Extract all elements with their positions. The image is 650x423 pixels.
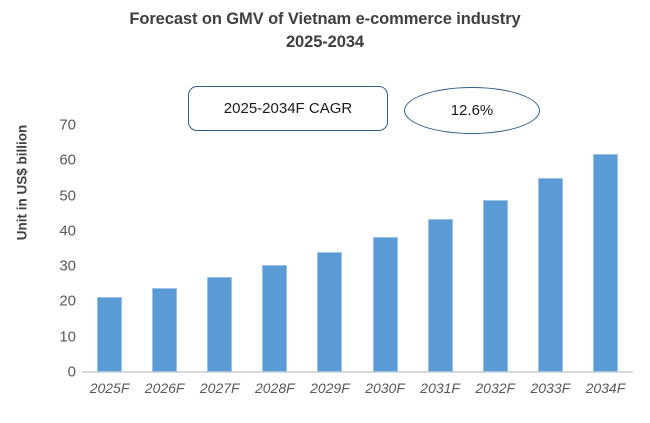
bar — [97, 297, 122, 373]
x-axis-tick-label: 2026F — [137, 380, 193, 396]
x-axis-tick-label: 2032F — [467, 380, 523, 396]
bar — [538, 178, 563, 372]
chart-title-line-2: 2025-2034 — [0, 31, 650, 54]
x-axis-tick-label: 2034F — [577, 380, 633, 396]
bar — [207, 277, 232, 372]
chart-title-line-1: Forecast on GMV of Vietnam e-commerce in… — [0, 8, 650, 31]
y-axis-tick-label: 10 — [0, 328, 76, 345]
y-axis-tick-label: 70 — [0, 117, 76, 134]
bar — [262, 265, 287, 372]
bars-layer — [82, 125, 633, 372]
bar — [483, 200, 508, 372]
x-axis-tick-labels: 2025F2026F2027F2028F2029F2030F2031F2032F… — [82, 380, 633, 406]
y-axis-tick-label: 0 — [0, 364, 76, 381]
x-axis-tick-label: 2029F — [302, 380, 358, 396]
bar — [317, 252, 342, 372]
x-axis-tick-label: 2030F — [357, 380, 413, 396]
y-axis-tick-label: 30 — [0, 258, 76, 275]
x-axis-tick-label: 2027F — [192, 380, 248, 396]
bar — [152, 288, 177, 372]
chart-container: Forecast on GMV of Vietnam e-commerce in… — [0, 0, 650, 423]
y-axis-tick-labels: 010203040506070 — [0, 125, 76, 373]
chart-title: Forecast on GMV of Vietnam e-commerce in… — [0, 8, 650, 55]
cagr-value-text: 12.6% — [451, 102, 494, 119]
x-axis-tick-label: 2028F — [247, 380, 303, 396]
y-axis-tick-label: 20 — [0, 293, 76, 310]
y-axis-tick-label: 60 — [0, 152, 76, 169]
bar — [593, 154, 618, 372]
y-axis-tick-label: 50 — [0, 187, 76, 204]
x-axis-tick-label: 2031F — [412, 380, 468, 396]
bar — [428, 219, 453, 372]
cagr-label-text: 2025-2034F CAGR — [224, 100, 352, 117]
y-axis-tick-label: 40 — [0, 222, 76, 239]
bar — [373, 237, 398, 372]
x-axis-tick-label: 2025F — [82, 380, 138, 396]
x-axis-tick-label: 2033F — [522, 380, 578, 396]
